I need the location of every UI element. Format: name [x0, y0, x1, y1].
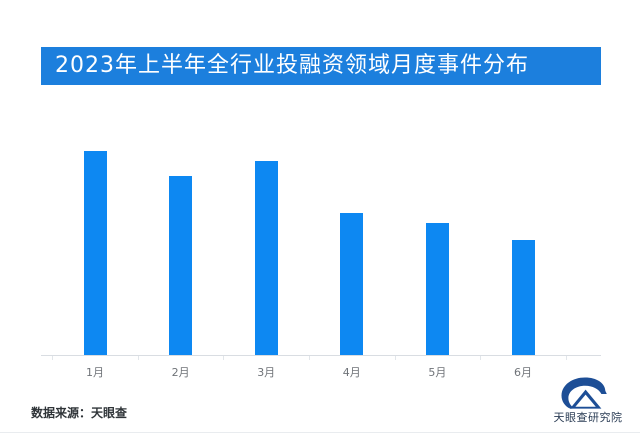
chart-title-banner: 2023年上半年全行业投融资领域月度事件分布 [41, 47, 601, 85]
bar-slot [255, 120, 278, 355]
bar-slot [340, 120, 363, 355]
bar-chart [41, 120, 601, 356]
bar-slot [512, 120, 535, 355]
x-axis-tick [52, 356, 53, 360]
x-axis-label-3: 3月 [236, 364, 296, 380]
x-axis-tick [223, 356, 224, 360]
x-axis-label-5: 5月 [407, 364, 467, 380]
x-axis-label-1: 1月 [65, 364, 125, 380]
bar-slot [84, 120, 107, 355]
brand-logo: 天眼查研究院 [542, 376, 634, 432]
bar-2月[interactable] [169, 176, 192, 355]
x-axis-tick [480, 356, 481, 360]
bar-6月[interactable] [512, 240, 535, 355]
x-axis-tick [138, 356, 139, 360]
bar-slot [426, 120, 449, 355]
data-source-label: 数据来源：天眼查 [31, 404, 127, 421]
x-axis-tick [309, 356, 310, 360]
bar-5月[interactable] [426, 223, 449, 355]
x-axis-tick [395, 356, 396, 360]
tianyancha-swoosh-logo-icon [560, 376, 610, 410]
x-axis-line [41, 355, 601, 356]
x-axis-label-4: 4月 [322, 364, 382, 380]
x-axis-tick [566, 356, 567, 360]
bar-slot [169, 120, 192, 355]
bar-1月[interactable] [84, 151, 107, 355]
footer-divider [0, 432, 640, 433]
bars-layer [41, 120, 601, 355]
page-title: 2023年上半年全行业投融资领域月度事件分布 [55, 55, 529, 77]
bar-4月[interactable] [340, 213, 363, 355]
bar-3月[interactable] [255, 161, 278, 355]
x-axis-label-2: 2月 [151, 364, 211, 380]
brand-name: 天眼查研究院 [542, 409, 634, 425]
x-axis-tick-labels: 1月2月3月4月5月6月 [41, 364, 601, 382]
